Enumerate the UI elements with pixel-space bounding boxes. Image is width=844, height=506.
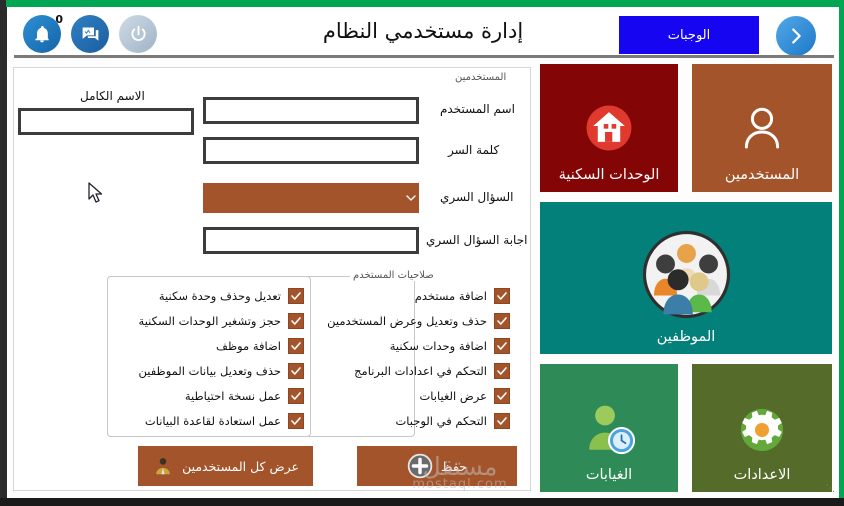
checkbox-right-4[interactable]	[494, 388, 510, 404]
permissions-column-right: اضافة مستخدمحذف وتعديل وعرض المستخدميناض…	[318, 284, 510, 432]
checkbox-right-5[interactable]	[494, 413, 510, 429]
house-icon	[576, 95, 642, 161]
permission-row[interactable]: اضافة وحدات سكنية	[318, 334, 510, 357]
permission-label: اضافة وحدات سكنية	[390, 339, 487, 353]
person-icon	[732, 99, 792, 159]
checkbox-right-3[interactable]	[494, 363, 510, 379]
fullname-input[interactable]	[18, 108, 194, 135]
tile-settings[interactable]: الاعدادات	[692, 364, 832, 492]
tile-absences-label: الغيابات	[586, 467, 632, 483]
secret-question-select[interactable]	[203, 183, 419, 213]
chevron-right-icon[interactable]	[776, 16, 816, 56]
tile-staff[interactable]: الموظفين	[540, 202, 832, 354]
permission-row[interactable]: عمل استعادة لقاعدة البيانات	[112, 409, 304, 432]
permission-label: التحكم في اعدادات البرنامج	[354, 364, 487, 378]
checkbox-left-1[interactable]	[288, 313, 304, 329]
gear-icon	[730, 398, 794, 462]
permission-label: عمل استعادة لقاعدة البيانات	[145, 414, 281, 428]
checkbox-right-2[interactable]	[494, 338, 510, 354]
checkbox-right-0[interactable]	[494, 288, 510, 304]
permission-label: اضافة موظف	[216, 339, 281, 353]
window-left-edge	[0, 0, 7, 506]
permission-row[interactable]: التحكم في الوجبات	[318, 409, 510, 432]
window-right-edge	[839, 0, 844, 506]
checkbox-left-0[interactable]	[288, 288, 304, 304]
window-bottom-edge	[0, 498, 844, 506]
permission-row[interactable]: اضافة موظف	[112, 334, 304, 357]
people-group-icon	[634, 222, 739, 327]
tile-staff-label: الموظفين	[657, 329, 716, 345]
tile-housing-units-label: الوحدات السكنية	[559, 167, 660, 183]
permission-label: حذف وتعديل بيانات الموظفين	[139, 364, 281, 378]
save-label: حفظ	[441, 459, 467, 474]
checkbox-right-1[interactable]	[494, 313, 510, 329]
permission-label: حجز وتشغير الوحدات السكنية	[139, 314, 281, 328]
checkbox-left-4[interactable]	[288, 388, 304, 404]
tile-settings-label: الاعدادات	[734, 467, 791, 483]
secret-answer-label: اجابة السؤال السري	[426, 233, 527, 247]
permission-row[interactable]: اضافة مستخدم	[318, 284, 510, 307]
permission-label: تعديل وحذف وحدة سكنية	[159, 289, 281, 303]
person-icon	[152, 455, 174, 477]
person-clock-icon	[576, 397, 642, 463]
secret-answer-input[interactable]	[203, 227, 419, 254]
username-label: اسم المستخدم	[440, 102, 515, 116]
tile-users-label: المستخدمين	[725, 167, 799, 183]
checkbox-left-3[interactable]	[288, 363, 304, 379]
permission-row[interactable]: حذف وتعديل بيانات الموظفين	[112, 359, 304, 382]
password-label: كلمة السر	[448, 143, 499, 157]
resize-grip[interactable]: ⋰	[826, 484, 836, 494]
permission-row[interactable]: تعديل وحذف وحدة سكنية	[112, 284, 304, 307]
meals-button[interactable]: الوجبات	[619, 16, 759, 54]
header-bar: 0 إدارة مستخدمي النظام الوجبات	[7, 7, 839, 58]
header-divider	[14, 55, 834, 58]
permission-row[interactable]: عرض الغيابات	[318, 384, 510, 407]
chevron-down-icon	[403, 190, 419, 206]
checkbox-left-5[interactable]	[288, 413, 304, 429]
checkbox-left-2[interactable]	[288, 338, 304, 354]
users-group-title: المستخدمين	[452, 72, 509, 83]
show-all-users-label: عرض كل المستخدمين	[182, 459, 299, 474]
show-all-users-button[interactable]: عرض كل المستخدمين	[138, 446, 313, 486]
navigation-tiles: الوحدات السكنية المستخدمين	[540, 64, 832, 492]
application-window: 0 إدارة مستخدمي النظام الوجبات	[0, 0, 844, 506]
permission-label: اضافة مستخدم	[415, 289, 487, 303]
password-input[interactable]	[203, 137, 419, 164]
tile-users[interactable]: المستخدمين	[692, 64, 832, 192]
tile-absences[interactable]: الغيابات	[540, 364, 678, 492]
permission-row[interactable]: حجز وتشغير الوحدات السكنية	[112, 309, 304, 332]
top-accent-bar	[6, 0, 844, 7]
permissions-group-title: صلاحيات المستخدم	[350, 270, 437, 281]
permissions-column-left: تعديل وحذف وحدة سكنيةحجز وتشغير الوحدات …	[112, 284, 304, 432]
permission-row[interactable]: حذف وتعديل وعرض المستخدمين	[318, 309, 510, 332]
secret-question-label: السؤال السري	[440, 190, 513, 204]
plus-circle-icon	[407, 453, 433, 479]
fullname-label: الاسم الكامل	[80, 89, 145, 103]
permission-label: حذف وتعديل وعرض المستخدمين	[327, 314, 487, 328]
tile-housing-units[interactable]: الوحدات السكنية	[540, 64, 678, 192]
permission-row[interactable]: التحكم في اعدادات البرنامج	[318, 359, 510, 382]
permission-label: عرض الغيابات	[419, 389, 487, 403]
username-input[interactable]	[203, 97, 419, 124]
permission-row[interactable]: عمل نسخة احتياطية	[112, 384, 304, 407]
save-button[interactable]: حفظ	[357, 446, 517, 486]
permission-label: التحكم في الوجبات	[395, 414, 487, 428]
permission-label: عمل نسخة احتياطية	[185, 389, 281, 403]
